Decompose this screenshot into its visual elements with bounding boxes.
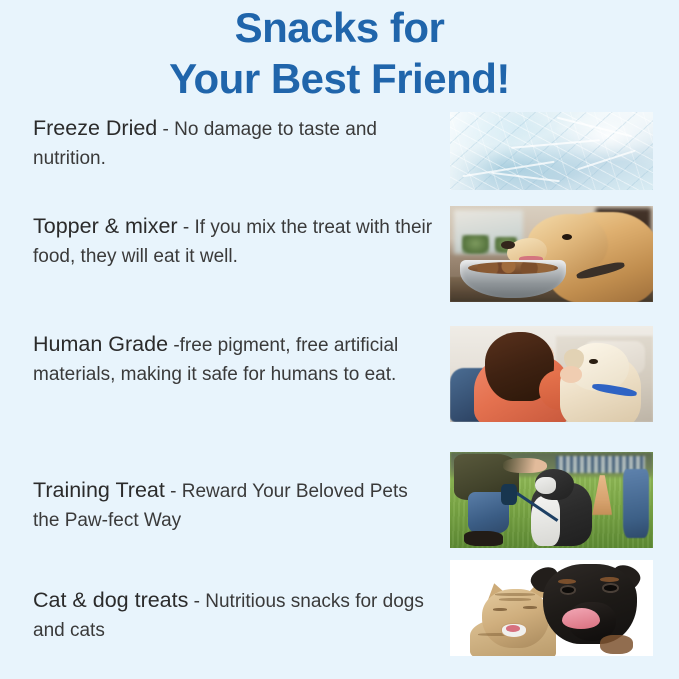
feature-row-training-treat: Training Treat - Reward Your Beloved Pet… bbox=[0, 458, 679, 576]
dog-brow-left bbox=[558, 579, 576, 584]
kitchen-plant-1 bbox=[462, 235, 488, 254]
feature-lead-human-grade: Human Grade bbox=[33, 332, 168, 356]
feature-list: Freeze Dried - No damage to taste and nu… bbox=[0, 104, 679, 664]
feature-lead-cat-dog-treats: Cat & dog treats bbox=[33, 588, 188, 612]
cat-stripe-1 bbox=[495, 593, 536, 596]
feature-text-training-treat: Training Treat - Reward Your Beloved Pet… bbox=[33, 476, 433, 535]
trainer-boot bbox=[464, 531, 503, 546]
snacks-infographic: Snacks for Your Best Friend! Freeze Drie… bbox=[0, 0, 679, 679]
page-title: Snacks for Your Best Friend! bbox=[0, 2, 679, 104]
dog-eye-left bbox=[560, 585, 576, 595]
feature-lead-topper-mixer: Topper & mixer bbox=[33, 214, 178, 238]
dog-training-on-grass-photo bbox=[450, 452, 653, 548]
golden-retriever-nose bbox=[501, 241, 515, 250]
leash-handle bbox=[501, 484, 517, 505]
feature-row-freeze-dried: Freeze Dried - No damage to taste and nu… bbox=[0, 104, 679, 200]
feature-row-cat-dog-treats: Cat & dog treats - Nutritious snacks for… bbox=[0, 576, 679, 672]
feature-text-topper-mixer: Topper & mixer - If you mix the treat wi… bbox=[33, 212, 433, 271]
feature-row-topper-mixer: Topper & mixer - If you mix the treat wi… bbox=[0, 200, 679, 318]
feature-row-human-grade: Human Grade -free pigment, free artifici… bbox=[0, 318, 679, 458]
trainer-arm bbox=[503, 458, 548, 473]
second-person-legs bbox=[623, 469, 649, 538]
cat-eye-left bbox=[493, 608, 507, 611]
feature-text-human-grade: Human Grade -free pigment, free artifici… bbox=[33, 330, 433, 389]
title-line-1: Snacks for bbox=[0, 2, 679, 53]
woman-feeding-puppy-photo bbox=[450, 326, 653, 422]
golden-retriever-eye bbox=[562, 234, 572, 240]
kibble-pile bbox=[468, 262, 557, 274]
cat-and-dog-portrait-photo bbox=[450, 560, 653, 656]
golden-retriever-with-food-bowl-photo bbox=[450, 206, 653, 302]
feature-lead-training-treat: Training Treat bbox=[33, 478, 165, 502]
dog-brow-right bbox=[600, 577, 618, 582]
woman-hand-with-treat bbox=[560, 366, 582, 382]
frozen-ice-texture-photo bbox=[450, 112, 653, 190]
feature-lead-freeze-dried: Freeze Dried bbox=[33, 116, 157, 140]
dog-eye-right bbox=[602, 583, 618, 593]
dog-tongue-licking bbox=[562, 608, 601, 629]
dog-tan-chest-marking bbox=[600, 635, 632, 654]
husky-face-mask bbox=[535, 477, 555, 494]
feature-text-freeze-dried: Freeze Dried - No damage to taste and nu… bbox=[33, 114, 433, 173]
cat-tongue bbox=[506, 625, 520, 632]
cat-eye-right bbox=[523, 606, 537, 609]
title-line-2: Your Best Friend! bbox=[0, 53, 679, 104]
feature-text-cat-dog-treats: Cat & dog treats - Nutritious snacks for… bbox=[33, 586, 433, 645]
